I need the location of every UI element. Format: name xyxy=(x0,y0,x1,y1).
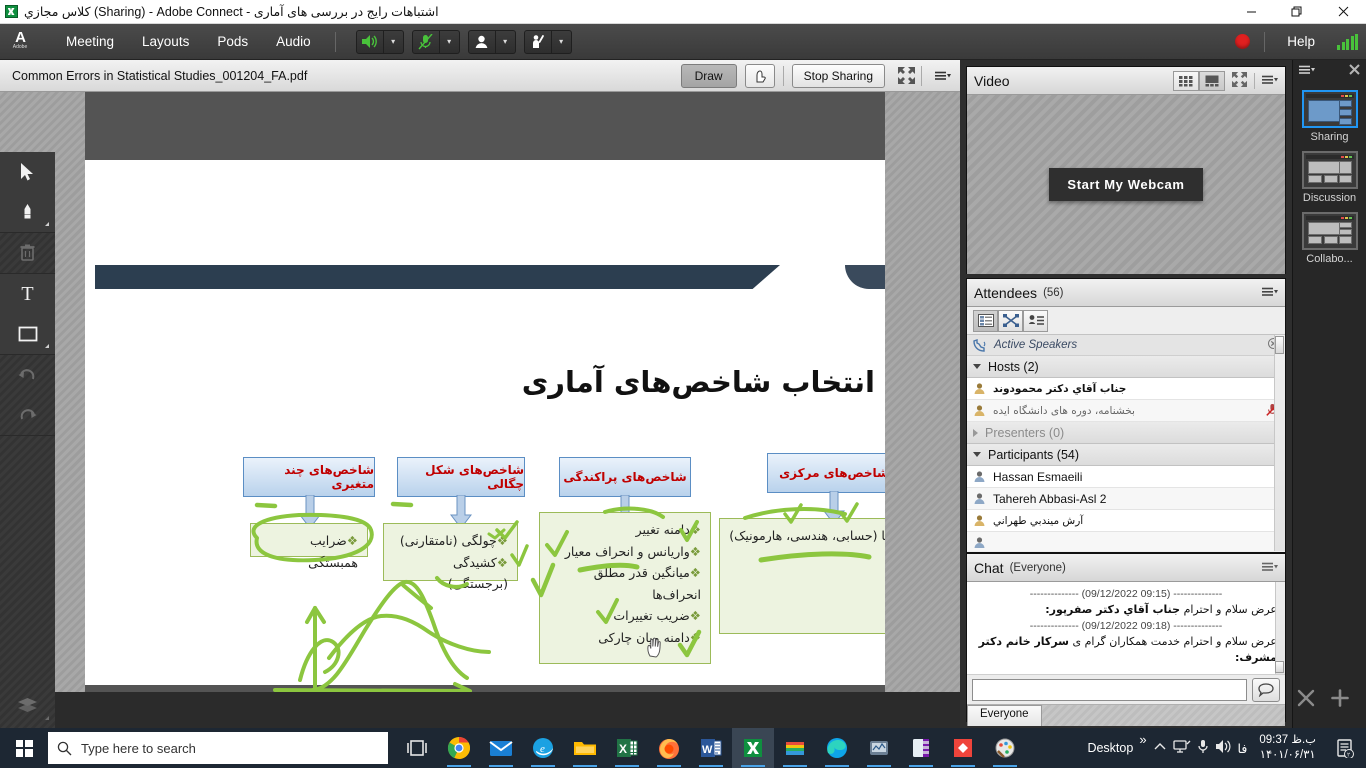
chat-message-text: عرض سلام و احترام xyxy=(1184,603,1277,616)
layout-thumbnail[interactable] xyxy=(1302,90,1358,128)
participant-avatar-icon xyxy=(973,536,986,549)
task-view-icon[interactable] xyxy=(396,728,438,768)
chat-input-row xyxy=(967,674,1285,704)
slide-canvas[interactable]: انتخاب شاخص‌های آماری شاخص‌های چند متغیر… xyxy=(85,92,885,692)
microphone-tray-icon[interactable] xyxy=(1197,739,1209,758)
layout-label: Collabo... xyxy=(1306,253,1352,265)
shape-tool[interactable] xyxy=(0,314,55,354)
attendee-row-partial[interactable] xyxy=(967,532,1285,551)
host-avatar-icon xyxy=(973,404,986,417)
clock-date: ۱۴۰۱/۰۶/۳۱ xyxy=(1259,748,1316,763)
language-indicator[interactable]: فا xyxy=(1238,741,1248,756)
internet-explorer-icon[interactable]: e xyxy=(522,728,564,768)
category-label: شاخص‌های پراکندگی xyxy=(563,470,686,484)
content-item: ❖میانگین‌ها (حسابی، هندسی، هارمونیک) xyxy=(729,525,885,547)
slide-title: انتخاب شاخص‌های آماری xyxy=(375,365,875,399)
drawing-tool-rail: T xyxy=(0,152,55,752)
attendee-name: Hassan Esmaeili xyxy=(993,470,1082,484)
raise-hand-dropdown-arrow[interactable]: ▾ xyxy=(552,30,572,54)
attendee-row[interactable]: بخشنامه، دوره های دانشگاه ایده xyxy=(967,400,1285,422)
chrome-icon[interactable] xyxy=(438,728,480,768)
layout-label: Discussion xyxy=(1303,192,1356,204)
scrollbar-thumb[interactable] xyxy=(1275,336,1284,354)
pod-swap-icon[interactable] xyxy=(1296,688,1316,714)
start-button[interactable] xyxy=(0,728,48,768)
layout-item-collaboration[interactable]: Collabo... xyxy=(1293,212,1366,265)
adobe-connect-icon[interactable] xyxy=(732,728,774,768)
taskbar-clock[interactable]: 09:37 ب.ظ ۱۴۰۱/۰۶/۳۱ xyxy=(1253,733,1322,763)
group-label: Participants (54) xyxy=(988,448,1079,462)
content-item: ❖دامنه تغییر xyxy=(549,519,701,541)
layout-label: Sharing xyxy=(1311,131,1349,143)
layout-item-sharing[interactable]: Sharing xyxy=(1293,90,1366,143)
content-box-central: ❖میانگین‌ها (حسابی، هندسی، هارمونیک) ❖نس… xyxy=(719,518,885,634)
webcam-button[interactable] xyxy=(468,30,496,54)
chat-scope-label: (Everyone) xyxy=(1010,562,1066,574)
marker-tool[interactable] xyxy=(0,192,55,232)
chat-message-author: جناب آقاي دكتر صفرپور: xyxy=(1045,603,1180,616)
category-label: شاخص‌های مرکزی xyxy=(779,466,885,480)
svg-text:e: e xyxy=(540,743,545,755)
attendees-pod-title: Attendees xyxy=(974,285,1037,301)
chat-message-text: عرض سلام و احترام خدمت همکاران گرام ی xyxy=(1072,635,1277,648)
slide-viewport[interactable]: انتخاب شاخص‌های آماری شاخص‌های چند متغیر… xyxy=(0,92,960,692)
hand-cursor-icon xyxy=(645,636,665,658)
content-item: ❖دامنه میان چارکی xyxy=(549,627,701,649)
chevron-right-icon xyxy=(973,429,978,437)
shared-file-name: Common Errors in Statistical Studies_001… xyxy=(12,69,681,83)
undo-tool[interactable] xyxy=(0,355,55,395)
attendee-group-hosts[interactable]: Hosts (2) xyxy=(967,356,1285,378)
add-pod-icon[interactable] xyxy=(1330,688,1350,714)
attendees-view-buttons xyxy=(967,307,1285,335)
content-item: ❖ضریب تغییرات xyxy=(549,605,701,627)
group-label: Hosts (2) xyxy=(988,360,1039,374)
notifications-icon[interactable]: ۲ xyxy=(1328,728,1362,768)
window-close-button[interactable] xyxy=(1320,0,1366,24)
pointer-tool[interactable] xyxy=(0,152,55,192)
edge-icon[interactable] xyxy=(816,728,858,768)
participant-avatar-icon xyxy=(973,470,986,483)
layout-bar-options-icon[interactable] xyxy=(1299,64,1315,78)
active-speakers-label: Active Speakers xyxy=(994,339,1077,351)
search-icon xyxy=(57,741,72,756)
help-menu[interactable]: Help xyxy=(1279,30,1323,53)
search-placeholder: Type here to search xyxy=(81,741,196,756)
chevron-down-icon xyxy=(973,452,981,457)
adobe-logo-letter: A xyxy=(15,32,25,44)
stop-sharing-button[interactable]: Stop Sharing xyxy=(792,64,885,88)
app-icon xyxy=(0,0,22,24)
content-item: ❖مد xyxy=(729,590,885,612)
speaker-button[interactable] xyxy=(356,30,384,54)
network-icon[interactable] xyxy=(1173,739,1191,758)
winrar-icon[interactable] xyxy=(774,728,816,768)
category-box-dispersion: شاخص‌های پراکندگی xyxy=(559,457,691,497)
fullscreen-icon[interactable] xyxy=(895,65,917,87)
active-speakers-row: Active Speakers xyxy=(967,335,1285,356)
content-item: ❖میانه xyxy=(729,568,885,590)
attendee-row[interactable]: Tahereh Abbasi-Asl 2 xyxy=(967,488,1285,510)
category-box-multivariate: شاخص‌های چند متغیری xyxy=(243,457,375,497)
category-box-central: شاخص‌های مرکزی xyxy=(767,453,885,493)
attendee-row[interactable]: Hassan Esmaeili xyxy=(967,466,1285,488)
chat-tabs: Everyone xyxy=(967,704,1285,726)
svg-text:W: W xyxy=(702,744,713,756)
webcam-dropdown-arrow[interactable]: ▾ xyxy=(496,30,516,54)
paint-icon[interactable] xyxy=(984,728,1026,768)
category-label: شاخص‌های شکل چگالی xyxy=(398,463,524,491)
anydesk-icon[interactable] xyxy=(942,728,984,768)
pods-column: Video xyxy=(960,60,1292,728)
layout-thumbnail[interactable] xyxy=(1302,212,1358,250)
pointer-button[interactable] xyxy=(745,64,775,88)
draw-button[interactable]: Draw xyxy=(681,64,737,88)
video-pod-body[interactable]: Start My Webcam xyxy=(967,95,1285,274)
text-tool[interactable]: T xyxy=(0,274,55,314)
excel-icon[interactable]: X xyxy=(606,728,648,768)
microphone-dropdown-arrow[interactable]: ▾ xyxy=(440,30,460,54)
window-minimize-button[interactable] xyxy=(1228,0,1274,24)
raise-hand-button[interactable] xyxy=(524,30,552,54)
window-restore-button[interactable] xyxy=(1274,0,1320,24)
menu-item-audio[interactable]: Audio xyxy=(262,28,325,55)
attendee-group-participants[interactable]: Participants (54) xyxy=(967,444,1285,466)
participant-avatar-icon xyxy=(973,492,986,505)
menubar-divider-2 xyxy=(1264,32,1265,52)
svg-text:X: X xyxy=(619,742,627,756)
layers-tool[interactable] xyxy=(0,686,55,726)
slide-page: انتخاب شاخص‌های آماری شاخص‌های چند متغیر… xyxy=(85,160,885,685)
file-explorer-icon[interactable] xyxy=(564,728,606,768)
desktop-peek-label[interactable]: Desktop xyxy=(1087,741,1133,755)
menu-item-layouts[interactable]: Layouts xyxy=(128,28,203,55)
attendees-list[interactable]: Active Speakers Hosts (2) جناب آقاي دكتر… xyxy=(967,335,1285,551)
connection-strength-icon[interactable] xyxy=(1337,34,1358,50)
host-avatar-icon xyxy=(973,382,986,395)
media-player-icon[interactable] xyxy=(858,728,900,768)
category-label: شاخص‌های چند متغیری xyxy=(244,463,374,491)
layout-bar-close-icon[interactable] xyxy=(1349,64,1360,78)
chat-input[interactable] xyxy=(972,679,1247,701)
windows-logo-icon xyxy=(16,740,33,757)
attendees-pod: Attendees (56) xyxy=(966,278,1286,553)
attendees-pod-options-icon[interactable] xyxy=(1262,286,1278,300)
layout-thumbnail[interactable] xyxy=(1302,151,1358,189)
menu-item-meeting[interactable]: Meeting xyxy=(52,28,128,55)
content-item: ❖میانگین قدر مطلق انحراف‌ها xyxy=(549,562,701,605)
chat-pod-options-icon[interactable] xyxy=(1262,561,1278,575)
content-box-multivariate: ❖ضرایب همبستگی xyxy=(250,523,368,557)
content-item: ❖نسبت xyxy=(729,547,885,569)
content-box-shape: ❖چولگی (نامتقارنی) ❖کشیدگی (برجستگی) xyxy=(383,523,518,581)
chat-messages[interactable]: -------------- (09/12/2022 09:15) ------… xyxy=(967,582,1285,674)
video-pod-title: Video xyxy=(974,73,1010,89)
video-grid-view-button[interactable] xyxy=(1173,71,1199,91)
attendees-pod-header: Attendees (56) xyxy=(967,279,1285,307)
share-pod-options-icon[interactable] xyxy=(932,65,954,87)
attendee-group-presenters[interactable]: Presenters (0) xyxy=(967,422,1285,444)
taskbar-search[interactable]: Type here to search xyxy=(48,732,388,764)
start-my-webcam-button[interactable]: Start My Webcam xyxy=(1049,168,1202,201)
video-fullscreen-icon[interactable] xyxy=(1232,72,1247,90)
share-pod-header: Common Errors in Statistical Studies_001… xyxy=(0,60,960,92)
send-message-button[interactable] xyxy=(1252,678,1280,702)
attendee-name: آرش میندبي طهراني xyxy=(993,515,1083,527)
attendees-scrollbar[interactable] xyxy=(1274,335,1285,551)
onenote-icon[interactable] xyxy=(900,728,942,768)
window-titlebar: كلاس مجازي (Sharing) - Adobe Connect - ا… xyxy=(0,0,1366,24)
clock-time: 09:37 ب.ظ xyxy=(1259,733,1316,748)
content-item: ❖ضرایب همبستگی xyxy=(260,530,358,573)
content-item: ❖چولگی (نامتقارنی) xyxy=(393,530,508,552)
window-title: كلاس مجازي (Sharing) - Adobe Connect - ا… xyxy=(22,4,1228,19)
redo-tool[interactable] xyxy=(0,395,55,435)
chat-scrollbar[interactable] xyxy=(1275,582,1285,674)
content-box-dispersion: ❖دامنه تغییر ❖واریانس و انحراف معیار ❖می… xyxy=(539,512,711,664)
slide-decor-band-right xyxy=(845,265,885,289)
chat-message: عرض سلام و احترام خدمت همکاران گرام ی سر… xyxy=(975,634,1277,666)
attendee-name: بخشنامه، دوره های دانشگاه ایده xyxy=(993,405,1135,417)
layout-bar: Sharing Discussion Co xyxy=(1292,60,1366,728)
attendee-breakout-view-button[interactable] xyxy=(998,310,1023,332)
video-pod: Video xyxy=(966,66,1286,274)
menu-item-pods[interactable]: Pods xyxy=(203,28,262,55)
layout-item-discussion[interactable]: Discussion xyxy=(1293,151,1366,204)
video-filmstrip-view-button[interactable] xyxy=(1199,71,1225,91)
word-icon[interactable]: W xyxy=(690,728,732,768)
chat-pod-header: Chat (Everyone) xyxy=(967,554,1285,582)
delete-tool[interactable] xyxy=(0,233,55,273)
chat-pod-title: Chat xyxy=(974,560,1004,576)
slide-decor-band xyxy=(95,265,780,289)
mail-icon[interactable] xyxy=(480,728,522,768)
attendee-row[interactable]: جناب آقاي دكتر محمودوند xyxy=(967,378,1285,400)
attendee-status-view-button[interactable] xyxy=(1023,310,1048,332)
participant-avatar-icon xyxy=(973,514,986,527)
recording-indicator-icon xyxy=(1235,34,1250,49)
firefox-icon[interactable] xyxy=(648,728,690,768)
attendee-list-view-button[interactable] xyxy=(973,310,998,332)
tray-expand-icon[interactable] xyxy=(1153,741,1167,755)
category-box-shape: شاخص‌های شکل چگالی xyxy=(397,457,525,497)
microphone-muted-button[interactable] xyxy=(412,30,440,54)
attendees-count: (56) xyxy=(1043,287,1063,299)
tray-overflow-icon[interactable]: » xyxy=(1139,732,1146,747)
volume-icon[interactable] xyxy=(1215,739,1232,757)
chat-divider: -------------- (09/12/2022 09:18) ------… xyxy=(975,618,1277,634)
chat-message: عرض سلام و احترام جناب آقاي دكتر صفرپور: xyxy=(975,602,1277,618)
group-label: Presenters (0) xyxy=(985,426,1064,440)
menu-items: Meeting Layouts Pods Audio xyxy=(52,28,325,55)
chat-divider: -------------- (09/12/2022 09:15) ------… xyxy=(975,586,1277,602)
share-pod: Common Errors in Statistical Studies_001… xyxy=(0,60,960,692)
adobe-logo-sub: Adobe xyxy=(13,44,27,51)
video-pod-options-icon[interactable] xyxy=(1262,74,1278,88)
chevron-down-icon xyxy=(973,364,981,369)
scrollbar-thumb[interactable] xyxy=(1275,661,1284,673)
attendee-name: Tahereh Abbasi-Asl 2 xyxy=(993,492,1106,506)
attendee-name: جناب آقاي دكتر محمودوند xyxy=(993,383,1126,395)
chat-tab-everyone[interactable]: Everyone xyxy=(967,705,1042,726)
menubar-divider xyxy=(335,32,336,52)
content-item: ❖کشیدگی (برجستگی) xyxy=(393,552,508,595)
content-item: ❖واریانس و انحراف معیار xyxy=(549,541,701,563)
adobe-logo-icon: A Adobe xyxy=(0,24,40,60)
svg-text:۲: ۲ xyxy=(1347,753,1350,759)
speaker-dropdown-arrow[interactable]: ▾ xyxy=(384,30,404,54)
windows-taskbar: Type here to search e X xyxy=(0,728,1366,768)
adobe-connect-menubar: A Adobe Meeting Layouts Pods Audio ▾ ▾ xyxy=(0,24,1366,60)
video-pod-header: Video xyxy=(967,67,1285,95)
attendee-row[interactable]: آرش میندبي طهراني xyxy=(967,510,1285,532)
chat-pod: Chat (Everyone) -------------- (09/12/20… xyxy=(966,553,1286,722)
